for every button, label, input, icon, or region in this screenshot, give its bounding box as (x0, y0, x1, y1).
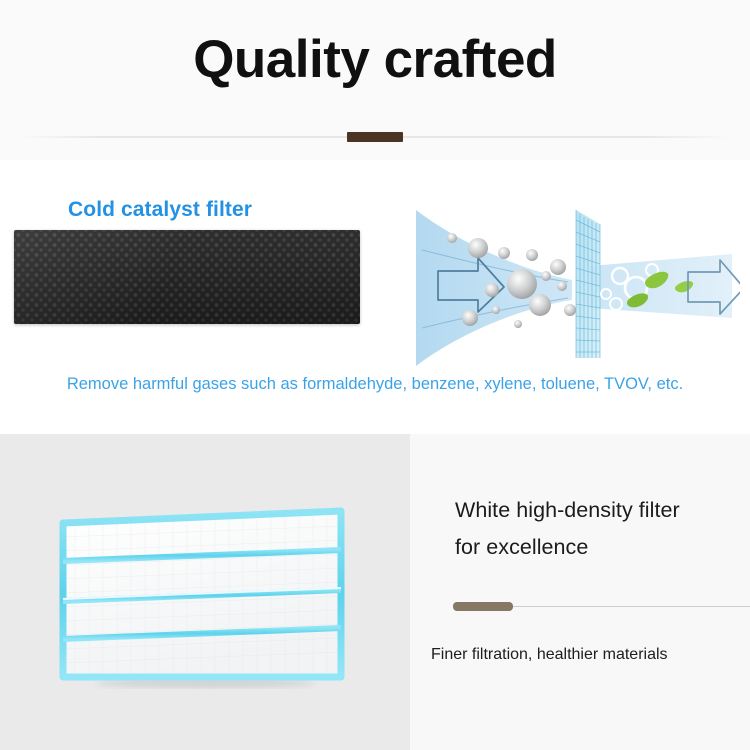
filter-mesh-screen (576, 210, 600, 358)
white-filter-accent-marker (453, 602, 513, 611)
page-title: Quality crafted (0, 32, 750, 88)
white-filter-caption: Finer filtration, healthier materials (431, 646, 750, 664)
white-filter-image-panel (0, 434, 410, 750)
cold-catalyst-filter-image (14, 230, 360, 324)
header-band: Quality crafted (0, 0, 750, 160)
header-accent-marker (347, 132, 403, 142)
white-filter-heading-line-1: White high-density filter (455, 492, 740, 529)
white-filter-heading-line-2: for excellence (455, 529, 740, 566)
cold-catalyst-caption: Remove harmful gases such as formaldehyd… (0, 375, 750, 394)
white-filter-section: White high-density filter for excellence… (0, 434, 750, 750)
cold-catalyst-heading: Cold catalyst filter (68, 198, 252, 222)
cold-catalyst-section: Cold catalyst filter (0, 160, 750, 434)
airflow-filtration-diagram (400, 208, 740, 368)
product-feature-page: Quality crafted Cold catalyst filter (0, 0, 750, 750)
white-filter-text-panel: White high-density filter for excellence… (410, 434, 750, 750)
white-filter-heading: White high-density filter for excellence (455, 492, 740, 566)
white-high-density-filter-image (55, 499, 350, 689)
